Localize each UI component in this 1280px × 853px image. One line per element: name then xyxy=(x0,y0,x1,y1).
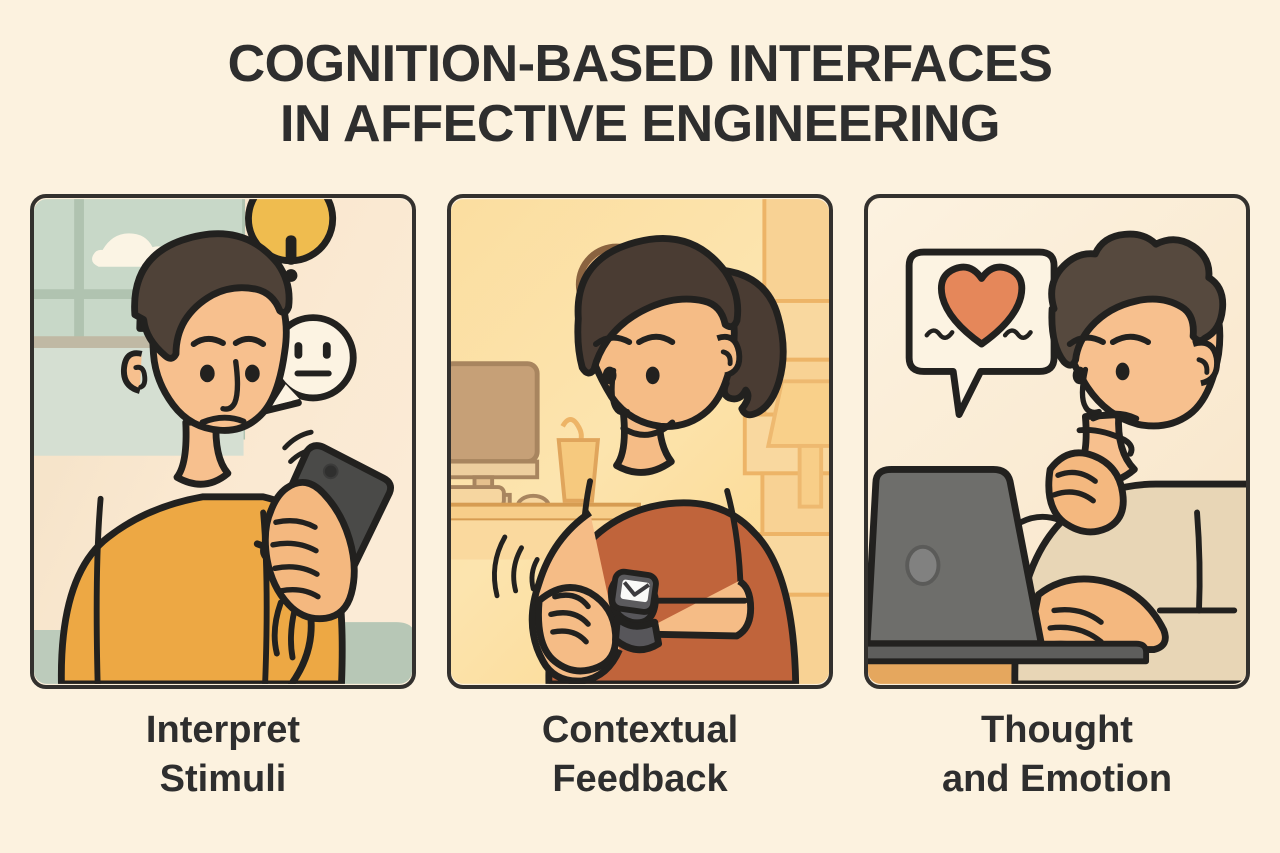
panel-contextual-feedback xyxy=(447,194,833,689)
illustration-canvas: Cognition-Based Interfaces In Affective … xyxy=(0,0,1280,853)
page-title: Cognition-Based Interfaces In Affective … xyxy=(0,34,1280,154)
panel-interpret-stimuli xyxy=(30,194,416,689)
caption-line-2: and Emotion xyxy=(864,755,1250,804)
page-title-line-1: Cognition-Based Interfaces xyxy=(0,34,1280,94)
caption-line-2: Feedback xyxy=(447,755,833,804)
caption-interpret-stimuli: Interpret Stimuli xyxy=(30,706,416,826)
caption-row: Interpret Stimuli Contextual Feedback Th… xyxy=(30,706,1250,826)
caption-line-1: Contextual xyxy=(447,706,833,755)
smartwatch-icon xyxy=(611,571,658,650)
caption-line-2: Stimuli xyxy=(30,755,416,804)
laptop-logo-icon xyxy=(907,547,938,584)
envelope-icon xyxy=(620,579,650,602)
page-title-line-2: In Affective Engineering xyxy=(0,94,1280,154)
panel-row xyxy=(30,194,1250,689)
panel-thought-and-emotion xyxy=(864,194,1250,689)
caption-thought-and-emotion: Thought and Emotion xyxy=(864,706,1250,826)
caption-line-1: Thought xyxy=(864,706,1250,755)
caption-contextual-feedback: Contextual Feedback xyxy=(447,706,833,826)
caption-line-1: Interpret xyxy=(30,706,416,755)
